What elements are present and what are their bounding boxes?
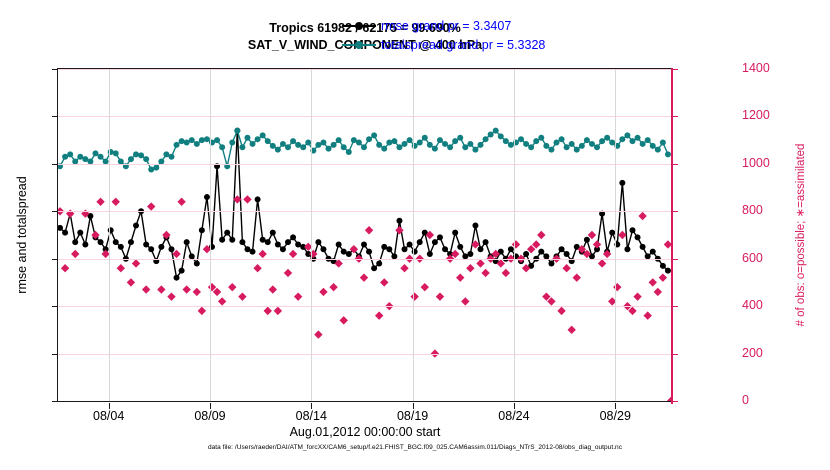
x-tick-mark: [413, 403, 414, 409]
series-point: [290, 234, 296, 240]
series-point: [619, 180, 625, 186]
obs-marker: [466, 264, 474, 272]
series-point: [128, 156, 134, 162]
series-point: [72, 239, 78, 245]
plot-area: 01234567 0200400600800100012001400 08/04…: [57, 68, 673, 402]
series-point: [229, 237, 235, 243]
obs-marker: [112, 198, 120, 206]
obs-marker: [659, 273, 667, 281]
series-point: [629, 227, 635, 233]
series-point: [158, 244, 164, 250]
series-point: [118, 244, 124, 250]
series-point: [483, 136, 489, 142]
series-point: [341, 144, 347, 150]
series-point: [579, 143, 585, 149]
x-tick-08-04: 08/04: [79, 409, 139, 423]
series-point: [660, 140, 666, 146]
x-tick-mark: [615, 403, 616, 409]
series-point: [396, 218, 402, 224]
series-point: [361, 144, 367, 150]
series-point: [528, 144, 534, 150]
series-point: [366, 136, 372, 142]
legend-item-rmse[interactable]: rmse grand pr = 3.3407: [342, 16, 545, 35]
gridline-horizontal: [58, 306, 672, 307]
series-point: [138, 152, 144, 158]
series-point: [629, 138, 635, 144]
series-point: [229, 140, 235, 146]
obs-marker: [228, 283, 236, 291]
series-point: [498, 133, 504, 139]
series-point: [518, 136, 524, 142]
x-tick-08-24: 08/24: [484, 409, 544, 423]
obs-marker: [157, 285, 165, 293]
series-point: [179, 268, 185, 274]
series-point: [168, 246, 174, 252]
obs-marker: [274, 307, 282, 315]
series-point: [77, 230, 83, 236]
obs-marker: [461, 297, 469, 305]
series-point: [255, 136, 261, 142]
series-point: [422, 135, 428, 141]
obs-marker: [117, 264, 125, 272]
series-point: [437, 234, 443, 240]
series-point: [660, 263, 666, 269]
obs-marker: [654, 288, 662, 296]
y-tick-right-1000: 1000: [742, 156, 786, 170]
series-point: [523, 251, 529, 257]
obs-marker: [360, 273, 368, 281]
x-tick-mark: [210, 403, 211, 409]
series-point: [143, 241, 149, 247]
series-point: [569, 141, 575, 147]
gridline-horizontal: [58, 116, 672, 117]
obs-marker: [289, 250, 297, 258]
chart-page: Tropics 61982 / 62175 = 99.690% SAT_V_WI…: [0, 0, 830, 470]
series-point: [645, 137, 651, 143]
obs-marker: [142, 285, 150, 293]
obs-marker: [633, 292, 641, 300]
series-point: [255, 196, 261, 202]
series-point: [168, 154, 174, 160]
series-point: [133, 223, 139, 229]
series-point: [467, 251, 473, 257]
series-point: [250, 249, 256, 255]
series-point: [619, 136, 625, 142]
series-point: [402, 141, 408, 147]
obs-marker: [264, 307, 272, 315]
gridline-horizontal: [58, 259, 672, 260]
obs-marker: [395, 226, 403, 234]
gridline-horizontal: [58, 69, 672, 70]
series-point: [655, 147, 661, 153]
series-point: [320, 140, 326, 146]
series-point: [250, 141, 256, 147]
series-point: [640, 244, 646, 250]
obs-marker: [238, 292, 246, 300]
series-point: [442, 141, 448, 147]
obs-marker: [476, 259, 484, 267]
series-point: [437, 137, 443, 143]
gridline-vertical: [109, 69, 110, 401]
series-point: [533, 138, 539, 144]
series-point: [128, 239, 134, 245]
series-point: [133, 151, 139, 157]
obs-marker: [258, 250, 266, 258]
obs-marker: [147, 202, 155, 210]
y-tick-right-800: 800: [742, 203, 786, 217]
obs-marker: [243, 195, 251, 203]
series-point: [290, 138, 296, 144]
y-tick-mark-left: [52, 354, 58, 355]
series-point: [386, 246, 392, 252]
series-point: [113, 239, 119, 245]
legend-label-totalspread: totalspread grand pr = 5.3328: [381, 38, 545, 52]
series-point: [483, 239, 489, 245]
series-point: [478, 246, 484, 252]
series-point: [503, 138, 509, 144]
series-point: [650, 143, 656, 149]
y-axis-right-label: # of obs: o=possible; ∗=assimilated: [793, 144, 807, 327]
obs-marker: [167, 292, 175, 300]
obs-marker: [71, 250, 79, 258]
series-point: [143, 156, 149, 162]
series-point: [366, 249, 372, 255]
series-point: [462, 144, 468, 150]
x-tick-08-09: 08/09: [180, 409, 240, 423]
obs-marker: [593, 240, 601, 248]
series-point: [346, 149, 352, 155]
series-point: [376, 142, 382, 148]
series-point: [184, 239, 190, 245]
x-tick-08-29: 08/29: [585, 409, 645, 423]
series-point: [624, 132, 630, 138]
series-point: [584, 237, 590, 243]
obs-marker: [177, 198, 185, 206]
series-point: [148, 246, 154, 252]
series-point: [62, 230, 68, 236]
gridline-vertical: [413, 69, 414, 401]
obs-marker: [537, 231, 545, 239]
series-point: [315, 239, 321, 245]
series-totalspread: [58, 128, 671, 173]
gridline-vertical: [311, 69, 312, 401]
series-point: [635, 135, 641, 141]
series-point: [417, 239, 423, 245]
series-point: [265, 239, 271, 245]
series-point: [447, 144, 453, 150]
series-point: [457, 135, 463, 141]
y-tick-right-400: 400: [742, 298, 786, 312]
series-point: [640, 141, 646, 147]
series-point: [594, 144, 600, 150]
y-tick-right-600: 600: [742, 251, 786, 265]
series-point: [427, 142, 433, 148]
series-point: [244, 135, 250, 141]
obs-marker: [400, 264, 408, 272]
series-point: [275, 147, 281, 153]
series-point: [356, 140, 362, 146]
series-point: [265, 138, 271, 144]
gridline-horizontal: [58, 354, 672, 355]
series-point: [472, 223, 478, 229]
series-point: [559, 246, 565, 252]
series-point: [478, 142, 484, 148]
series-point: [179, 138, 185, 144]
x-tick-mark: [109, 403, 110, 409]
obs-marker: [365, 226, 373, 234]
obs-marker: [193, 288, 201, 296]
series-point: [219, 237, 225, 243]
series-point: [488, 131, 494, 137]
series-point: [589, 141, 595, 147]
series-point: [174, 275, 180, 281]
obs-marker: [340, 316, 348, 324]
series-point: [275, 241, 281, 247]
obs-marker: [380, 278, 388, 286]
obs-marker: [96, 198, 104, 206]
series-point: [452, 230, 458, 236]
series-point: [280, 246, 286, 252]
series-point: [376, 260, 382, 266]
x-axis-label: Aug.01,2012 00:00:00 start: [57, 425, 673, 439]
y-tick-mark-left: [52, 69, 58, 70]
series-point: [98, 154, 104, 160]
obs-marker: [598, 259, 606, 267]
series-point: [391, 138, 397, 144]
obs-marker: [329, 283, 337, 291]
obs-marker: [649, 278, 657, 286]
obs-marker: [319, 288, 327, 296]
obs-marker: [269, 285, 277, 293]
obs-marker: [284, 269, 292, 277]
obs-marker: [638, 212, 646, 220]
series-point: [472, 147, 478, 153]
x-tick-mark: [514, 403, 515, 409]
y-tick-right-200: 200: [742, 346, 786, 360]
x-tick-08-19: 08/19: [383, 409, 443, 423]
series-point: [199, 137, 205, 143]
y-tick-mark-left: [52, 401, 58, 402]
series-point: [67, 151, 73, 157]
y-tick-right-0: 0: [742, 393, 786, 407]
obs-marker: [643, 311, 651, 319]
series-point: [543, 143, 549, 149]
series-point: [331, 142, 337, 148]
series-point: [224, 230, 230, 236]
series-point: [194, 260, 200, 266]
y-tick-right-1200: 1200: [742, 108, 786, 122]
chart-legend: rmse grand pr = 3.3407 totalspread grand…: [338, 13, 551, 57]
series-point: [326, 146, 332, 152]
series-point: [320, 246, 326, 252]
data-file-caption: data file: /Users/raeder/DAI/ATM_forcXX/…: [0, 444, 830, 451]
gridline-horizontal: [58, 164, 672, 165]
series-point: [270, 230, 276, 236]
series-point: [386, 140, 392, 146]
series-point: [189, 137, 195, 143]
series-point: [336, 137, 342, 143]
series-point: [153, 165, 159, 171]
series-point: [452, 138, 458, 144]
y-tick-right-1400: 1400: [742, 61, 786, 75]
series-point: [260, 132, 266, 138]
obs-marker: [182, 285, 190, 293]
series-point: [417, 140, 423, 146]
series-point: [538, 135, 544, 141]
plot-canvas: [58, 69, 672, 401]
series-point: [285, 239, 291, 245]
series-point: [523, 141, 529, 147]
series-point: [564, 144, 570, 150]
series-: [58, 195, 672, 358]
series-point: [427, 251, 433, 257]
y-tick-mark-left: [52, 164, 58, 165]
series-point: [574, 147, 580, 153]
series-point: [599, 138, 605, 144]
series-point: [584, 137, 590, 143]
obs-marker: [198, 307, 206, 315]
obs-marker: [314, 330, 322, 338]
legend-label-rmse: rmse grand pr = 3.3407: [381, 19, 511, 33]
series-point: [564, 251, 570, 257]
legend-item-totalspread[interactable]: totalspread grand pr = 5.3328: [342, 35, 545, 54]
x-tick-mark: [311, 403, 312, 409]
series-point: [199, 227, 205, 233]
obs-marker: [375, 311, 383, 319]
series-point: [381, 146, 387, 152]
obs-marker: [436, 292, 444, 300]
series-point: [604, 135, 610, 141]
series-point: [82, 241, 88, 247]
series-point: [214, 137, 220, 143]
obs-marker: [294, 292, 302, 300]
series-point: [346, 251, 352, 257]
series-point: [280, 141, 286, 147]
series-point: [650, 249, 656, 255]
legend-marker-totalspread: [342, 39, 376, 51]
chart-series-layer: [58, 69, 672, 401]
series-point: [548, 147, 554, 153]
y-tick-mark-left: [52, 306, 58, 307]
series-point: [285, 144, 291, 150]
obs-marker: [573, 273, 581, 281]
obs-marker: [557, 307, 565, 315]
series-point: [371, 132, 377, 138]
series-point: [396, 144, 402, 150]
series-point: [300, 144, 306, 150]
obs-marker: [562, 264, 570, 272]
series-point: [113, 150, 119, 156]
gridline-horizontal: [58, 211, 672, 212]
obs-marker: [61, 264, 69, 272]
series-point: [467, 141, 473, 147]
series-point: [635, 234, 641, 240]
series-point: [239, 144, 245, 150]
series-point: [538, 249, 544, 255]
right-axis-spine: [671, 68, 673, 404]
series-point: [194, 141, 200, 147]
series-point: [548, 260, 554, 266]
series-point: [98, 239, 104, 245]
obs-marker: [253, 264, 261, 272]
series-point: [442, 246, 448, 252]
obs-marker: [502, 269, 510, 277]
x-tick-08-14: 08/14: [281, 409, 341, 423]
series-point: [559, 136, 565, 142]
y-tick-mark-left: [52, 211, 58, 212]
series-point: [92, 150, 98, 156]
series-point: [493, 128, 499, 134]
obs-marker: [618, 231, 626, 239]
y-tick-mark-left: [52, 259, 58, 260]
series-point: [219, 144, 225, 150]
obs-marker: [127, 278, 135, 286]
obs-marker: [481, 269, 489, 277]
legend-marker-rmse: [342, 20, 376, 32]
gridline-vertical: [615, 69, 616, 401]
series-point: [554, 140, 560, 146]
obs-marker: [567, 326, 575, 334]
series-point: [371, 265, 377, 271]
series-point: [432, 146, 438, 152]
gridline-vertical: [210, 69, 211, 401]
obs-marker: [421, 283, 429, 291]
series-point: [361, 241, 367, 247]
gridline-vertical: [514, 69, 515, 401]
obs-marker: [218, 297, 226, 305]
series-point: [402, 246, 408, 252]
series-point: [432, 239, 438, 245]
y-axis-left-label: rmse and totalspread: [15, 176, 29, 293]
y-tick-mark-left: [52, 116, 58, 117]
series-point: [234, 128, 240, 134]
obs-marker: [456, 273, 464, 281]
series-point: [457, 244, 463, 250]
series-point: [336, 241, 342, 247]
series-point: [174, 142, 180, 148]
series-point: [624, 246, 630, 252]
obs-marker: [132, 259, 140, 267]
series-point: [239, 239, 245, 245]
series-point: [270, 143, 276, 149]
